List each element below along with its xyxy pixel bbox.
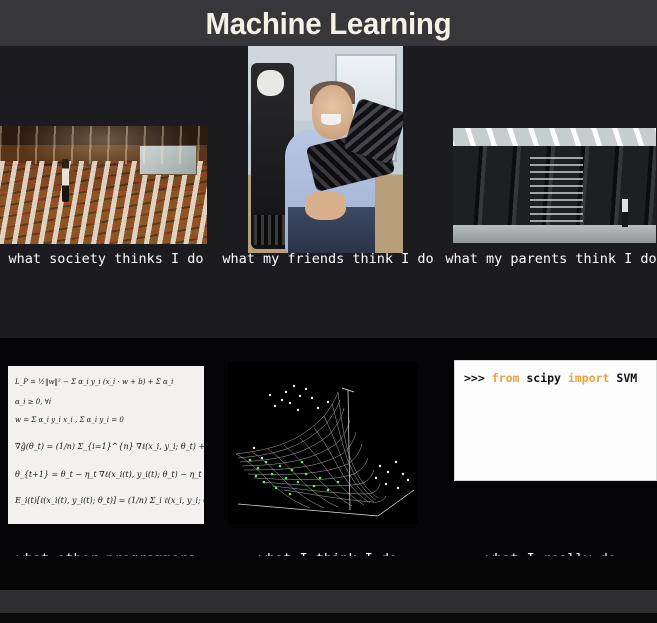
man-hands: [305, 191, 345, 220]
python-terminal-screenshot: >>> from scipy import SVM: [454, 360, 657, 481]
meme-image: Machine Learning what society thinks I d…: [0, 0, 657, 623]
bottom-black-strip: [0, 556, 657, 590]
mesh-svg: [228, 362, 418, 524]
terminal-code-line: >>> from scipy import SVM: [464, 371, 637, 385]
equation-lagrangian: L_P = ½‖w‖² − Σ α_i y_i (x_i · w + b) + …: [15, 378, 173, 386]
prompt-token: >>>: [464, 371, 485, 385]
3d-wireframe-surface-scatter-plot: [228, 362, 418, 524]
man-head: [312, 85, 354, 139]
man-smile: [321, 114, 341, 124]
wall-screen: [139, 145, 197, 175]
caption-parents: what my parents think I do: [445, 252, 657, 267]
equation-gradient: ∇ĝ(θ_t) = (1/n) Σ_{i=1}^{n} ∇ℓ(x_i, y_i;…: [15, 442, 204, 451]
page-title: Machine Learning: [206, 8, 452, 39]
standing-person: [62, 159, 69, 201]
caption-society: what society thinks I do: [0, 252, 212, 267]
auditorium-rows-of-machines-photo: [0, 126, 207, 244]
meme-header: Machine Learning: [0, 0, 657, 46]
bottom-edge-strip: [0, 613, 657, 623]
equation-alpha-constraint: α_i ≥ 0, ∀i: [15, 398, 51, 406]
caption-friends: what my friends think I do: [222, 252, 434, 267]
keyword-import-token: import: [568, 371, 610, 385]
keyword-from-token: from: [492, 371, 520, 385]
panel-society: what society thinks I do: [0, 46, 212, 338]
equation-sgd-update: θ_{t+1} = θ_t − η_t ∇ℓ(x_i(t), y_i(t); θ…: [15, 470, 204, 479]
module-scipy-token: scipy: [526, 371, 561, 385]
symbol-svm-token: SVM: [616, 371, 637, 385]
data-center-floor: [453, 225, 656, 243]
equation-expectation: E_i(t)[ℓ(x_i(t), y_i(t); θ_t)] = (1/n) Σ…: [15, 496, 204, 505]
panel-parents: what my parents think I do: [445, 46, 657, 338]
svm-math-equations-image: L_P = ½‖w‖² − Σ α_i y_i (x_i · w + b) + …: [8, 366, 204, 524]
meme-row-top: what society thinks I do what my friends…: [0, 46, 657, 338]
technician: [622, 188, 628, 227]
equation-w-definition: w = Σ α_i y_i x_i , Σ α_i y_i = 0: [15, 416, 124, 424]
man-with-humanoid-robot-photo: [248, 46, 403, 253]
supercomputer-server-racks-photo: [453, 128, 656, 243]
panel-friends: what my friends think I do: [222, 46, 434, 338]
meme-grid: what society thinks I do what my friends…: [0, 46, 657, 623]
